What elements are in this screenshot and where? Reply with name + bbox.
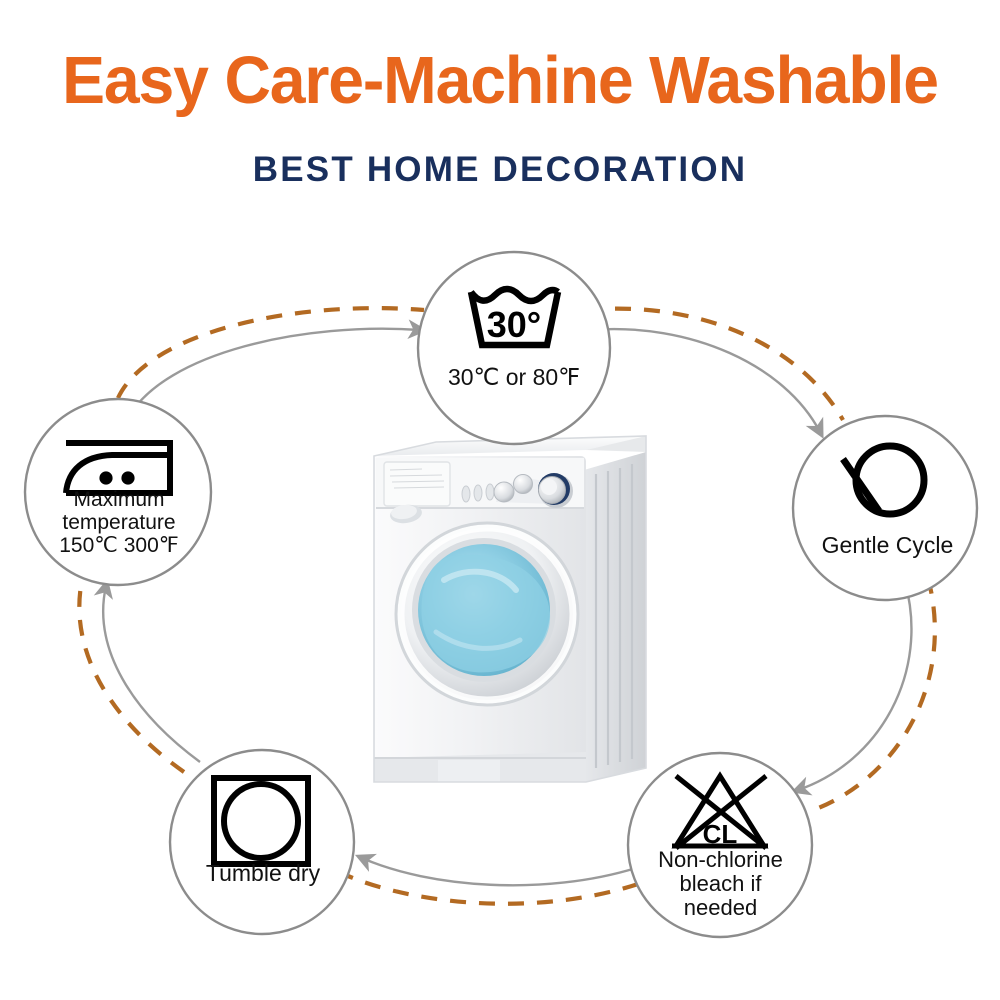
infographic-page: Easy Care-Machine Washable BEST HOME DEC… bbox=[0, 0, 1000, 1000]
svg-text:30°: 30° bbox=[487, 304, 541, 345]
care-node-wash-temperature[interactable]: 30° bbox=[418, 252, 610, 444]
connector-iron-to-wash bbox=[118, 308, 424, 418]
connector-bleach-to-tumble bbox=[348, 858, 638, 904]
washing-machine-illustration bbox=[355, 436, 655, 795]
care-node-non-chlorine-bleach[interactable]: CL bbox=[628, 753, 812, 937]
connector-gentle-to-bleach bbox=[798, 578, 935, 812]
care-node-tumble-dry[interactable] bbox=[170, 750, 354, 934]
connector-wash-to-gentle bbox=[586, 309, 843, 432]
svg-text:CL: CL bbox=[703, 819, 738, 849]
care-instructions-flow-diagram: 30° bbox=[0, 0, 1000, 1000]
connector-tumble-to-iron bbox=[79, 580, 200, 772]
care-node-max-iron-temperature[interactable] bbox=[25, 399, 211, 585]
care-node-gentle-cycle[interactable] bbox=[793, 416, 977, 600]
